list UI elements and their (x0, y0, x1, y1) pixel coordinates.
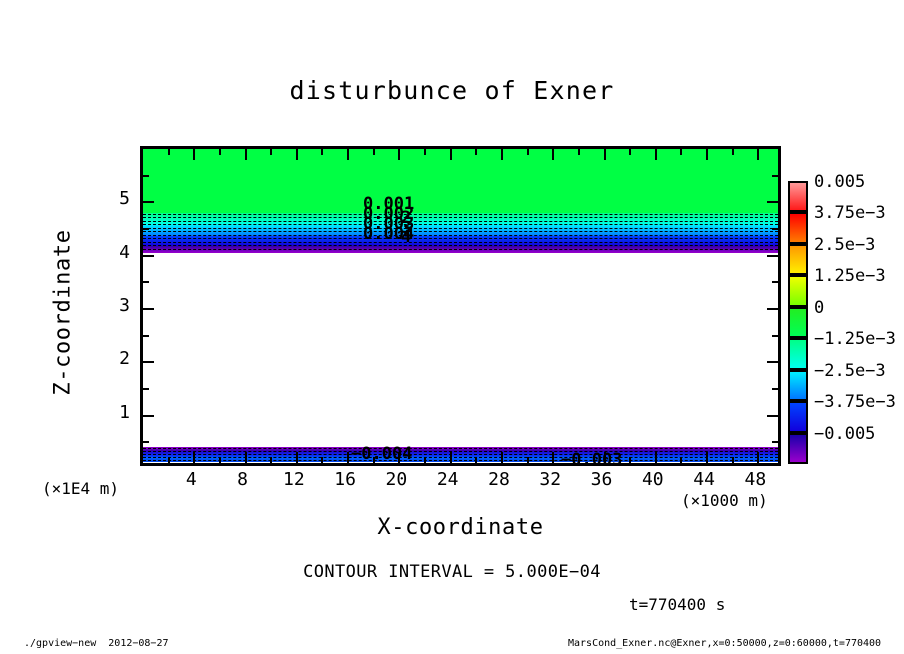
y-tick-label: 4 (104, 242, 130, 263)
plot-area[interactable] (140, 146, 781, 466)
x-tick-minor (475, 149, 477, 155)
y-tick-major (767, 255, 778, 257)
x-tick-major (604, 149, 606, 160)
y-tick-major (143, 415, 154, 417)
y-tick-minor (772, 388, 778, 390)
colorbar-tick-label: −0.005 (814, 424, 875, 444)
x-tick-major (347, 149, 349, 160)
x-tick-major (706, 149, 708, 160)
contour-line (143, 249, 778, 250)
contour-band (143, 213, 778, 225)
colorbar-tick-label: −3.75e−3 (814, 392, 896, 412)
x-tick-minor (732, 149, 734, 155)
x-tick-major (296, 149, 298, 160)
x-tick-major (706, 452, 708, 463)
contour-field (143, 149, 778, 463)
footer-command: ./gpview−new 2012−08−27 (24, 638, 169, 649)
contour-line (143, 448, 778, 449)
x-tick-minor (270, 149, 272, 155)
colorbar-cell-orange-yellow (788, 244, 808, 275)
contour-value-label: 4 (401, 229, 411, 246)
y-tick-label: 1 (104, 402, 130, 423)
contour-line (143, 238, 778, 239)
contour-line (143, 454, 778, 455)
contour-interval-note: CONTOUR INTERVAL = 5.000E−04 (0, 562, 904, 582)
x-tick-major (296, 452, 298, 463)
y-tick-minor (143, 228, 149, 230)
colorbar-cell-blue-purple (788, 433, 808, 464)
y-tick-major (767, 361, 778, 363)
y-tick-label: 5 (104, 188, 130, 209)
y-tick-minor (143, 441, 149, 443)
y-tick-major (767, 201, 778, 203)
x-tick-major (501, 149, 503, 160)
x-tick-minor (578, 149, 580, 155)
contour-value-label: −0.004 (351, 446, 412, 463)
colorbar-cell-yellow-green (788, 275, 808, 306)
x-tick-label: 16 (322, 469, 368, 490)
y-tick-major (767, 415, 778, 417)
y-tick-minor (772, 441, 778, 443)
y-tick-major (143, 255, 154, 257)
y-tick-minor (143, 281, 149, 283)
colorbar-cell-pink-red (788, 181, 808, 212)
contour-line (143, 451, 778, 452)
x-tick-major (552, 149, 554, 160)
x-tick-minor (373, 149, 375, 155)
colorbar-tick-label: 2.5e−3 (814, 235, 875, 255)
contour-line (143, 217, 778, 218)
contour-line (143, 460, 778, 461)
colorbar-cell-green (788, 307, 808, 338)
y-tick-minor (143, 388, 149, 390)
x-tick-major (757, 452, 759, 463)
x-tick-label: 20 (373, 469, 419, 490)
x-tick-minor (732, 457, 734, 463)
contour-line (143, 224, 778, 225)
x-tick-minor (219, 457, 221, 463)
x-tick-label: 44 (681, 469, 727, 490)
x-tick-major (193, 452, 195, 463)
x-tick-minor (527, 149, 529, 155)
page-title: disturbunce of Exner (0, 76, 904, 105)
x-tick-major (655, 149, 657, 160)
footer-dataset: MarsCond_Exner.nc@Exner,x=0:50000,z=0:60… (568, 638, 881, 649)
y-axis-title: Z-coordinate (51, 223, 76, 403)
x-tick-major (757, 149, 759, 160)
x-tick-label: 40 (630, 469, 676, 490)
x-tick-minor (629, 149, 631, 155)
x-tick-label: 24 (425, 469, 471, 490)
x-tick-minor (424, 149, 426, 155)
x-tick-minor (219, 149, 221, 155)
colorbar-tick-label: −1.25e−3 (814, 329, 896, 349)
x-tick-minor (680, 149, 682, 155)
x-tick-minor (527, 457, 529, 463)
colorbar-tick-label: 3.75e−3 (814, 203, 886, 223)
x-tick-label: 8 (220, 469, 266, 490)
contour-value-label: −0.003 (561, 452, 622, 469)
x-tick-major (398, 149, 400, 160)
contour-band (143, 462, 778, 466)
x-tick-label: 32 (527, 469, 573, 490)
x-tick-major (552, 452, 554, 463)
colorbar-cell-green-cyan (788, 338, 808, 369)
x-axis-unit: (×1000 m) (681, 491, 768, 510)
y-axis-unit: (×1E4 m) (42, 479, 119, 498)
colorbar-tick-label: 0 (814, 298, 824, 318)
y-tick-minor (143, 175, 149, 177)
y-tick-major (767, 308, 778, 310)
y-tick-label: 2 (104, 348, 130, 369)
x-axis-title: X-coordinate (140, 515, 781, 540)
time-stamp: t=770400 s (629, 595, 725, 614)
x-tick-major (655, 452, 657, 463)
x-tick-minor (270, 457, 272, 463)
x-tick-minor (321, 149, 323, 155)
y-tick-major (143, 308, 154, 310)
contour-line (143, 235, 778, 236)
contour-line (143, 214, 778, 215)
x-tick-minor (321, 457, 323, 463)
x-tick-major (193, 149, 195, 160)
x-tick-label: 4 (168, 469, 214, 490)
x-tick-label: 12 (271, 469, 317, 490)
x-tick-minor (475, 457, 477, 463)
x-tick-minor (629, 457, 631, 463)
y-tick-major (143, 361, 154, 363)
y-tick-minor (772, 281, 778, 283)
contour-line (143, 221, 778, 222)
x-tick-major (245, 452, 247, 463)
colorbar-tick-label: 1.25e−3 (814, 266, 886, 286)
x-tick-major (450, 452, 452, 463)
x-tick-major (347, 452, 349, 463)
x-tick-major (450, 149, 452, 160)
x-tick-label: 28 (476, 469, 522, 490)
contour-band (143, 149, 778, 213)
contour-line (143, 245, 778, 246)
colorbar-tick-label: 0.005 (814, 172, 865, 192)
x-tick-label: 48 (732, 469, 778, 490)
colorbar[interactable] (788, 181, 808, 464)
contour-line (143, 228, 778, 229)
colorbar-cell-cyan-blue (788, 370, 808, 401)
y-tick-minor (143, 335, 149, 337)
y-tick-minor (772, 335, 778, 337)
y-tick-major (143, 201, 154, 203)
x-tick-minor (680, 457, 682, 463)
y-tick-label: 3 (104, 295, 130, 316)
x-tick-minor (424, 457, 426, 463)
colorbar-cell-blue (788, 401, 808, 432)
x-tick-major (245, 149, 247, 160)
contour-line (143, 242, 778, 243)
contour-line (143, 231, 778, 232)
colorbar-tick-label: −2.5e−3 (814, 361, 886, 381)
x-tick-minor (168, 457, 170, 463)
y-tick-minor (772, 175, 778, 177)
x-tick-minor (168, 149, 170, 155)
x-tick-major (501, 452, 503, 463)
colorbar-cell-red-orange (788, 212, 808, 243)
x-tick-label: 36 (579, 469, 625, 490)
y-tick-minor (772, 228, 778, 230)
contour-line (143, 457, 778, 458)
